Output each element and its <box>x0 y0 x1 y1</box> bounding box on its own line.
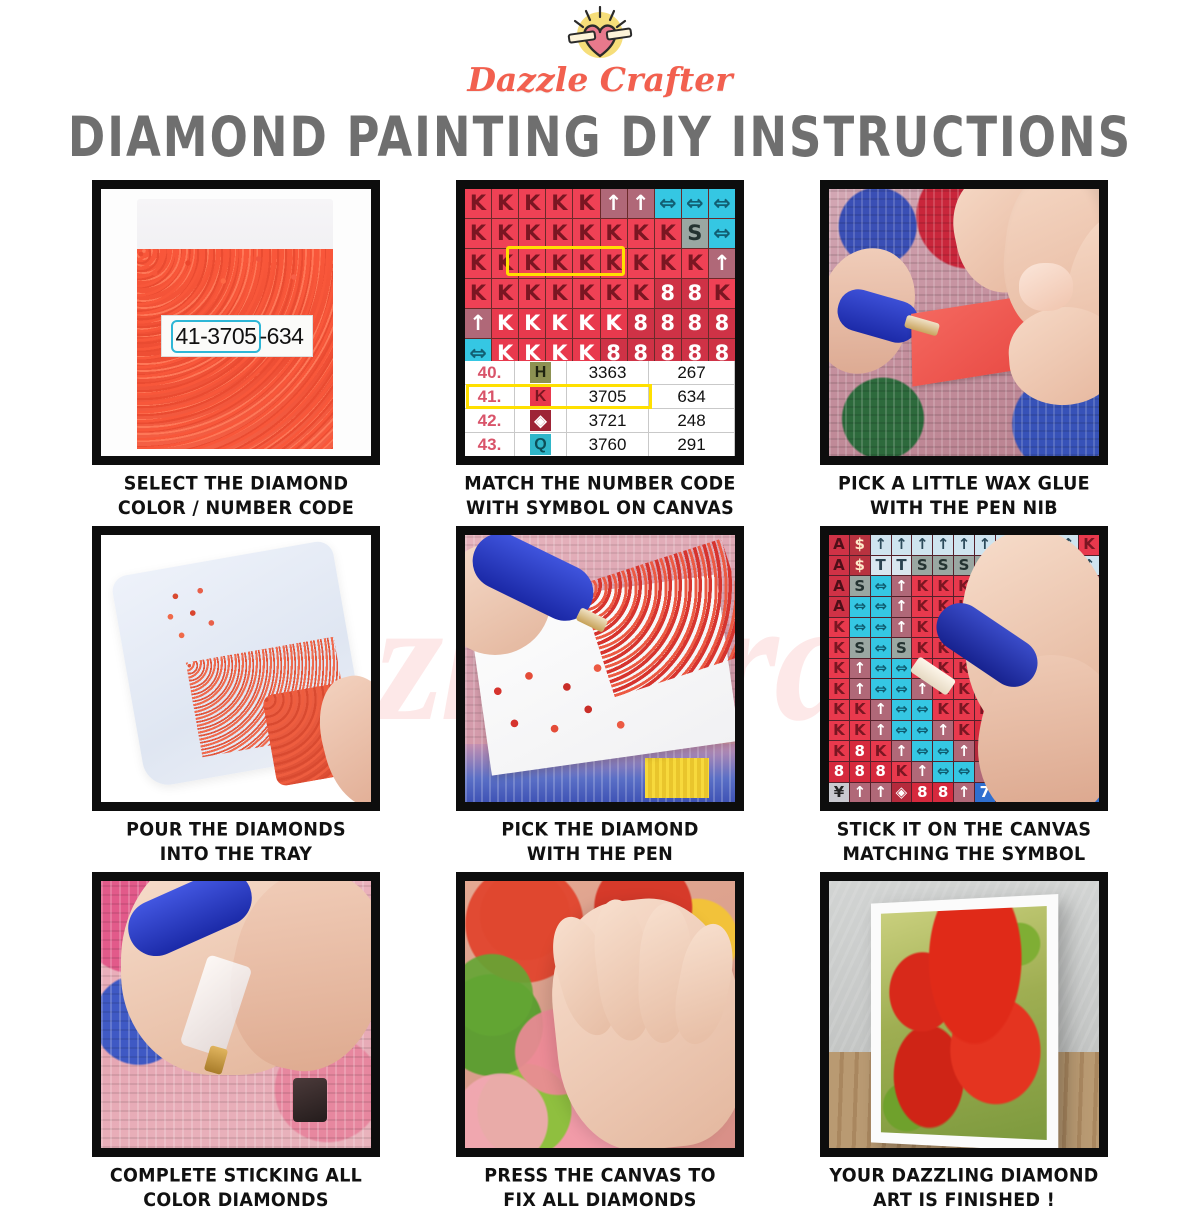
chart-cell: 8 <box>709 309 735 338</box>
chart-cell: K <box>465 249 491 278</box>
step-card-1: 41-3705-634 SELECT THE DIAMOND COLOR / N… <box>62 180 410 520</box>
canvas-cell: ↑ <box>871 700 891 720</box>
diamond-bag-photo: 41-3705-634 <box>101 189 371 456</box>
canvas-cell: S <box>912 556 932 576</box>
canvas-cell: K <box>954 721 974 741</box>
step-card-3: PICK A LITTLE WAX GLUE WITH THE PEN NIB <box>790 180 1138 520</box>
legend-row-number: 40. <box>465 361 515 384</box>
bag-code-highlight: 41-3705 <box>171 320 262 353</box>
step-1-caption-line2: COLOR / NUMBER CODE <box>118 497 354 521</box>
canvas-cell: ⇔ <box>850 618 870 638</box>
step-card-9: YOUR DAZZLING DIAMOND ART IS FINISHED ! <box>790 872 1138 1212</box>
step-8-caption: PRESS THE CANVAS TO FIX ALL DIAMONDS <box>484 1165 716 1214</box>
legend-row-dmc: 3705 <box>567 385 649 408</box>
canvas-cell: T <box>892 556 912 576</box>
canvas-cell: K <box>933 576 953 596</box>
step-4-image <box>92 526 380 811</box>
canvas-cell: K <box>912 576 932 596</box>
step-5-caption-line1: PICK THE DIAMOND <box>501 819 698 843</box>
chart-cell: K <box>601 279 627 308</box>
step-7-caption-line1: COMPLETE STICKING ALL <box>110 1165 362 1189</box>
step-7-image <box>92 872 380 1157</box>
step-2-caption: MATCH THE NUMBER CODE WITH SYMBOL ON CAN… <box>464 473 735 522</box>
chart-cell: 8 <box>628 309 654 338</box>
press-canvas-photo <box>465 881 735 1148</box>
canvas-cell: ↑ <box>850 783 870 803</box>
chart-cell: K <box>519 309 545 338</box>
wax-glue-photo <box>829 189 1099 456</box>
picture-frame <box>871 894 1058 1148</box>
step-card-7: COMPLETE STICKING ALL COLOR DIAMONDS <box>62 872 410 1212</box>
canvas-cell: ↑ <box>954 741 974 761</box>
bag-code-suffix: -634 <box>259 323 303 349</box>
canvas-cell: ↑ <box>850 679 870 699</box>
canvas-cell: K <box>829 638 849 658</box>
chart-cell: K <box>492 309 518 338</box>
legend-row-count: 248 <box>649 409 735 432</box>
chart-cell: K <box>519 249 545 278</box>
page-header: Dazzle Crafter DIAMOND PAINTING DIY INST… <box>0 0 1200 158</box>
poppy-artwork <box>881 906 1047 1140</box>
canvas-cell: ↑ <box>892 535 912 555</box>
canvas-cell: ¥ <box>829 783 849 803</box>
canvas-cell: ⇔ <box>892 700 912 720</box>
chart-cell: K <box>601 219 627 248</box>
canvas-cell: K <box>912 638 932 658</box>
step-card-4: POUR THE DIAMONDS INTO THE TRAY <box>62 526 410 866</box>
dark-bead-cluster <box>293 1078 327 1122</box>
canvas-cell: ↑ <box>954 535 974 555</box>
canvas-cell: K <box>871 741 891 761</box>
legend-row-number: 43. <box>465 433 515 456</box>
canvas-cell: ⇔ <box>892 659 912 679</box>
legend-row: 43.Q3760291 <box>465 433 735 456</box>
legend-row-number: 42. <box>465 409 515 432</box>
chart-cell: K <box>492 219 518 248</box>
legend-row: 42.◈3721248 <box>465 409 735 433</box>
legend-row-number: 41. <box>465 385 515 408</box>
legend-row: 41.K3705634 <box>465 385 735 409</box>
step-3-caption: PICK A LITTLE WAX GLUE WITH THE PEN NIB <box>838 473 1090 522</box>
canvas-cell: 8 <box>933 783 953 803</box>
canvas-cell: K <box>850 721 870 741</box>
step-8-caption-line1: PRESS THE CANVAS TO <box>484 1165 716 1189</box>
chart-cell: K <box>628 279 654 308</box>
legend-row-symbol: H <box>515 361 567 384</box>
chart-cell: K <box>546 189 572 218</box>
canvas-cell: A <box>829 597 849 617</box>
canvas-cell: ↑ <box>912 535 932 555</box>
chart-cell: ↑ <box>601 189 627 218</box>
chart-cell: ↑ <box>709 249 735 278</box>
step-3-caption-line2: WITH THE PEN NIB <box>838 497 1090 521</box>
canvas-cell: K <box>829 700 849 720</box>
canvas-cell: K <box>954 700 974 720</box>
step-card-6: A$↑↑↑↑↑↑↑↑↑↑KA$TTSSSSS⇔⇔S↑AS⇔↑KKKK↑⇔⇔↑↑A… <box>790 526 1138 866</box>
chart-cell: 8 <box>682 309 708 338</box>
chart-cell: K <box>601 309 627 338</box>
canvas-cell: ⇔ <box>871 576 891 596</box>
step-5-caption-line2: WITH THE PEN <box>501 843 698 867</box>
bag-code-label: 41-3705-634 <box>161 315 313 357</box>
complete-sticking-photo <box>101 881 371 1148</box>
step-6-caption-line1: STICK IT ON THE CANVAS <box>837 819 1091 843</box>
legend-row-symbol: K <box>515 385 567 408</box>
chart-cell: K <box>465 279 491 308</box>
canvas-cell: K <box>829 741 849 761</box>
step-9-image <box>820 872 1108 1157</box>
canvas-cell: K <box>933 700 953 720</box>
thumbnail <box>1019 263 1073 311</box>
page-title: DIAMOND PAINTING DIY INSTRUCTIONS <box>0 105 1200 170</box>
canvas-cell: K <box>829 679 849 699</box>
canvas-cell: K <box>829 659 849 679</box>
step-1-caption-line1: SELECT THE DIAMOND <box>118 473 354 497</box>
step-1-image: 41-3705-634 <box>92 180 380 465</box>
step-6-caption-line2: MATCHING THE SYMBOL <box>837 843 1091 867</box>
chart-cell: K <box>492 279 518 308</box>
canvas-cell: ↑ <box>933 535 953 555</box>
canvas-cell: ↑ <box>954 783 974 803</box>
legend-row-symbol: ◈ <box>515 409 567 432</box>
legend-row-dmc: 3363 <box>567 361 649 384</box>
step-9-caption-line2: ART IS FINISHED ! <box>829 1189 1098 1213</box>
chart-cell: K <box>655 219 681 248</box>
finished-art-photo <box>829 881 1099 1148</box>
step-9-caption-line1: YOUR DAZZLING DIAMOND <box>829 1165 1098 1189</box>
step-2-caption-line1: MATCH THE NUMBER CODE <box>464 473 735 497</box>
canvas-cell: ⇔ <box>933 741 953 761</box>
canvas-cell: ⇔ <box>892 721 912 741</box>
chart-symbol-grid: KKKKK↑↑⇔⇔⇔KKKKKKKKS⇔KKKKKKKKK↑KKKKKKK88K… <box>465 189 735 364</box>
step-card-8: PRESS THE CANVAS TO FIX ALL DIAMONDS <box>426 872 774 1212</box>
chart-cell: ⇔ <box>709 189 735 218</box>
chart-cell: K <box>601 249 627 278</box>
chart-cell: K <box>573 309 599 338</box>
canvas-cell: ↑ <box>871 721 891 741</box>
canvas-cell: ↑ <box>892 618 912 638</box>
chart-cell: ↑ <box>628 189 654 218</box>
chart-cell: K <box>628 219 654 248</box>
canvas-cell: ↑ <box>933 721 953 741</box>
brand-name: Dazzle Crafter <box>467 60 732 99</box>
chart-cell: S <box>682 219 708 248</box>
brand-logo: Dazzle Crafter <box>0 6 1200 99</box>
chart-cell: K <box>709 279 735 308</box>
step-card-5: PICK THE DIAMOND WITH THE PEN <box>426 526 774 866</box>
chart-cell: ⇔ <box>709 219 735 248</box>
canvas-cell: K <box>892 762 912 782</box>
canvas-cell: K <box>850 700 870 720</box>
chart-cell: K <box>546 219 572 248</box>
canvas-cell: K <box>1079 535 1099 555</box>
chart-cell: K <box>519 279 545 308</box>
chart-cell: K <box>546 309 572 338</box>
chart-cell: K <box>573 219 599 248</box>
canvas-cell: ⇔ <box>892 679 912 699</box>
chart-cell: K <box>573 189 599 218</box>
canvas-cell: 8 <box>871 762 891 782</box>
chart-cell: 8 <box>682 279 708 308</box>
chart-cell: 8 <box>655 279 681 308</box>
chart-cell: ↑ <box>465 309 491 338</box>
chart-cell: K <box>492 249 518 278</box>
canvas-cell: ⇔ <box>912 741 932 761</box>
canvas-cell: 8 <box>850 741 870 761</box>
stick-on-canvas-photo: A$↑↑↑↑↑↑↑↑↑↑KA$TTSSSSS⇔⇔S↑AS⇔↑KKKK↑⇔⇔↑↑A… <box>829 535 1099 802</box>
canvas-cell: ⇔ <box>912 721 932 741</box>
canvas-cell: 8 <box>850 762 870 782</box>
bag-code-text: 41-3705-634 <box>171 323 304 350</box>
chart-cell: ⇔ <box>682 189 708 218</box>
canvas-cell: ⇔ <box>871 659 891 679</box>
canvas-cell: ↑ <box>912 762 932 782</box>
chart-cell: K <box>682 249 708 278</box>
chart-cell: ⇔ <box>655 189 681 218</box>
legend-rows: 40.H336326741.K370563442.◈372124843.Q376… <box>465 361 735 456</box>
canvas-cell: K <box>829 618 849 638</box>
canvas-cell: S <box>933 556 953 576</box>
canvas-cell: ◈ <box>892 783 912 803</box>
canvas-cell: S <box>892 638 912 658</box>
step-7-caption-line2: COLOR DIAMONDS <box>110 1189 362 1213</box>
canvas-cell: K <box>912 597 932 617</box>
chart-cell: K <box>465 219 491 248</box>
instruction-steps-grid: 41-3705-634 SELECT THE DIAMOND COLOR / N… <box>0 180 1200 1213</box>
canvas-cell: ↑ <box>892 576 912 596</box>
dmc-legend-table: 40.H336326741.K370563442.◈372124843.Q376… <box>465 361 735 456</box>
chart-cell: 8 <box>655 309 681 338</box>
step-6-caption: STICK IT ON THE CANVAS MATCHING THE SYMB… <box>837 819 1091 868</box>
canvas-cell: K <box>912 618 932 638</box>
chart-cell: K <box>573 249 599 278</box>
canvas-cell: 8 <box>829 762 849 782</box>
step-4-caption: POUR THE DIAMONDS INTO THE TRAY <box>126 819 346 868</box>
legend-row-symbol: Q <box>515 433 567 456</box>
canvas-cell: ⇔ <box>933 762 953 782</box>
canvas-cell: ⇔ <box>912 700 932 720</box>
canvas-cell: A <box>829 556 849 576</box>
step-5-caption: PICK THE DIAMOND WITH THE PEN <box>501 819 698 868</box>
canvas-cell: $ <box>850 535 870 555</box>
step-5-image <box>456 526 744 811</box>
step-4-caption-line1: POUR THE DIAMONDS <box>126 819 346 843</box>
tray-photo <box>101 535 371 802</box>
chart-cell: K <box>546 249 572 278</box>
step-2-caption-line2: WITH SYMBOL ON CANVAS <box>464 497 735 521</box>
canvas-cell: 8 <box>912 783 932 803</box>
step-8-image <box>456 872 744 1157</box>
pick-diamond-photo <box>465 535 735 802</box>
legend-row-count: 291 <box>649 433 735 456</box>
step-3-caption-line1: PICK A LITTLE WAX GLUE <box>838 473 1090 497</box>
canvas-cell: ⇔ <box>871 638 891 658</box>
step-1-caption: SELECT THE DIAMOND COLOR / NUMBER CODE <box>118 473 354 522</box>
canvas-cell: A <box>829 535 849 555</box>
canvas-cell: A <box>829 576 849 596</box>
chart-cell: K <box>655 249 681 278</box>
chart-cell: K <box>519 219 545 248</box>
canvas-cell: $ <box>850 556 870 576</box>
canvas-cell: S <box>850 638 870 658</box>
canvas-cell: ⇔ <box>850 597 870 617</box>
canvas-cell: T <box>871 556 891 576</box>
chart-cell: K <box>492 189 518 218</box>
canvas-cell: ↑ <box>892 597 912 617</box>
canvas-cell: ⇔ <box>954 762 974 782</box>
step-7-caption: COMPLETE STICKING ALL COLOR DIAMONDS <box>110 1165 362 1214</box>
canvas-cell: ↑ <box>850 659 870 679</box>
step-card-2: KKKKK↑↑⇔⇔⇔KKKKKKKKS⇔KKKKKKKKK↑KKKKKKK88K… <box>426 180 774 520</box>
yellow-beads-patch <box>645 758 709 798</box>
loose-diamonds <box>163 587 225 649</box>
step-9-caption: YOUR DAZZLING DIAMOND ART IS FINISHED ! <box>829 1165 1098 1214</box>
canvas-cell: ↑ <box>871 535 891 555</box>
legend-row-dmc: 3721 <box>567 409 649 432</box>
canvas-cell: ↑ <box>871 783 891 803</box>
step-6-image: A$↑↑↑↑↑↑↑↑↑↑KA$TTSSSSS⇔⇔S↑AS⇔↑KKKK↑⇔⇔↑↑A… <box>820 526 1108 811</box>
chart-cell: K <box>628 249 654 278</box>
canvas-cell: ⇔ <box>871 679 891 699</box>
step-8-caption-line2: FIX ALL DIAMONDS <box>484 1189 716 1213</box>
canvas-cell: ⇔ <box>871 597 891 617</box>
step-3-image <box>820 180 1108 465</box>
canvas-cell: S <box>850 576 870 596</box>
canvas-cell: ↑ <box>892 741 912 761</box>
chart-cell: K <box>573 279 599 308</box>
legend-row-count: 634 <box>649 385 735 408</box>
canvas-cell: ⇔ <box>871 618 891 638</box>
canvas-cell: K <box>829 721 849 741</box>
heart-with-pen-icon <box>561 6 639 64</box>
chart-cell: K <box>546 279 572 308</box>
legend-row-count: 267 <box>649 361 735 384</box>
chart-cell: K <box>465 189 491 218</box>
step-4-caption-line2: INTO THE TRAY <box>126 843 346 867</box>
step-2-image: KKKKK↑↑⇔⇔⇔KKKKKKKKS⇔KKKKKKKKK↑KKKKKKK88K… <box>456 180 744 465</box>
legend-row-dmc: 3760 <box>567 433 649 456</box>
legend-row: 40.H3363267 <box>465 361 735 385</box>
chart-cell: K <box>519 189 545 218</box>
canvas-chart-photo: KKKKK↑↑⇔⇔⇔KKKKKKKKS⇔KKKKKKKKK↑KKKKKKK88K… <box>465 189 735 456</box>
